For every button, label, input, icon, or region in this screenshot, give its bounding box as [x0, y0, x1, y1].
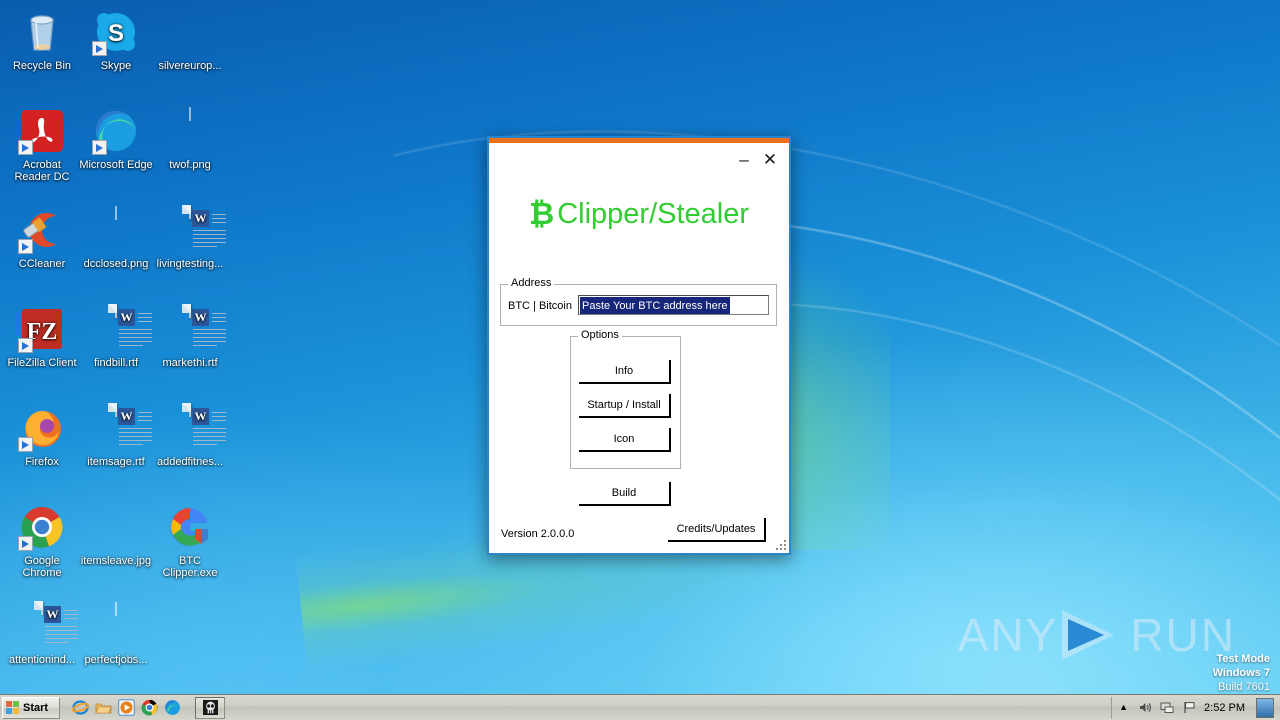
desktop-icon-3[interactable]: Acrobat Reader DC: [4, 107, 80, 183]
edge-art: [92, 107, 140, 155]
desktop-icon-label: Google Chrome: [4, 555, 80, 579]
word-doc-art: W: [166, 305, 214, 353]
recycle-bin-art: [18, 8, 66, 56]
show-desktop-button[interactable]: [1256, 698, 1274, 718]
windows-logo-icon: [6, 701, 20, 715]
blank-image-thumbnail: [115, 602, 117, 616]
desktop-icon-label: perfectjobs...: [78, 654, 154, 666]
shortcut-arrow-icon: [18, 536, 33, 551]
shortcut-arrow-icon: [18, 437, 33, 452]
minimize-button[interactable]: –: [733, 150, 755, 170]
chrome-art: [18, 503, 66, 551]
desktop-icon-18[interactable]: W attentionind...: [4, 602, 80, 666]
desktop-icon-label: addedfitnes...: [152, 456, 228, 468]
desktop-icon-label: Firefox: [4, 456, 80, 468]
black-thumb-art: [166, 8, 214, 56]
btc-clipper-exe-icon: [166, 503, 214, 551]
desktop-icon-19[interactable]: perfectjobs...: [78, 602, 154, 666]
address-group-legend: Address: [508, 277, 554, 289]
firefox-art: [18, 404, 66, 452]
address-groupbox: Address BTC | Bitcoin Paste Your BTC add…: [500, 284, 777, 326]
clock[interactable]: 2:52 PM: [1204, 702, 1245, 714]
black-thumb-art: [92, 503, 140, 551]
taskbar[interactable]: Start: [0, 694, 1280, 720]
word-doc-art: W: [92, 305, 140, 353]
btc-clipper-task-button[interactable]: [195, 697, 225, 719]
volume-icon[interactable]: [1138, 700, 1153, 715]
app-logo: ₿Clipper/Stealer: [489, 196, 789, 232]
desktop-icon-11[interactable]: W markethi.rtf: [152, 305, 228, 369]
bitcoin-icon: ₿: [529, 196, 554, 231]
desktop-icon-label: livingtesting...: [152, 258, 228, 270]
desktop-icon-label: twof.png: [152, 159, 228, 171]
empty-thumb-art: [92, 602, 140, 650]
desktop-icon-16[interactable]: itemsleave.jpg: [78, 503, 154, 567]
startup-install-button[interactable]: Startup / Install: [579, 394, 669, 416]
internet-explorer-icon[interactable]: [72, 699, 89, 716]
desktop-icon-label: attentionind...: [4, 654, 80, 666]
desktop-icon-label: itemsleave.jpg: [78, 555, 154, 567]
desktop-icon-0[interactable]: Recycle Bin: [4, 8, 80, 72]
desktop-icon-label: Recycle Bin: [4, 60, 80, 72]
btc-clipper-window[interactable]: – ✕ ₿Clipper/Stealer Address BTC | Bitco…: [487, 136, 791, 555]
start-button[interactable]: Start: [2, 697, 60, 719]
desktop[interactable]: Recycle Bin S Skypesilvereurop... Acroba…: [0, 0, 1280, 720]
desktop-icon-14[interactable]: W addedfitnes...: [152, 404, 228, 468]
microsoft-edge-icon[interactable]: [164, 699, 181, 716]
shortcut-arrow-icon: [92, 140, 107, 155]
test-mode-banner: Test Mode Windows 7 Build 7601: [1213, 652, 1270, 694]
desktop-icon-2[interactable]: silvereurop...: [152, 8, 228, 72]
desktop-icon-4[interactable]: Microsoft Edge: [78, 107, 154, 171]
test-mode-line1: Test Mode: [1213, 652, 1270, 666]
media-player-icon[interactable]: [118, 699, 135, 716]
desktop-icon-15[interactable]: Google Chrome: [4, 503, 80, 579]
quick-launch-bar[interactable]: [72, 699, 181, 716]
google-chrome-icon[interactable]: [141, 699, 158, 716]
shortcut-arrow-icon: [18, 239, 33, 254]
anyrun-watermark: ANY RUN: [958, 608, 1236, 662]
rtf-document-icon: W: [115, 304, 117, 318]
shortcut-arrow-icon: [92, 41, 107, 56]
btc-clipper-art: [166, 503, 214, 551]
watermark-text-any: ANY: [958, 608, 1059, 662]
desktop-icon-17[interactable]: BTC Clipper.exe: [152, 503, 228, 579]
rtf-document-icon: W: [41, 601, 43, 615]
desktop-icon-13[interactable]: W itemsage.rtf: [78, 404, 154, 468]
desktop-icon-label: markethi.rtf: [152, 357, 228, 369]
word-doc-art: W: [18, 602, 66, 650]
rtf-document-icon: W: [189, 304, 191, 318]
desktop-icon-label: BTC Clipper.exe: [152, 555, 228, 579]
desktop-icon-label: Acrobat Reader DC: [4, 159, 80, 183]
options-group-legend: Options: [578, 329, 622, 341]
test-mode-line2: Windows 7: [1213, 666, 1270, 680]
svg-text:S: S: [108, 20, 124, 47]
desktop-icon-1[interactable]: S Skype: [78, 8, 154, 72]
recycle-bin-icon: [18, 8, 66, 56]
window-titlebar[interactable]: – ✕: [489, 144, 789, 174]
blank-image-thumbnail: [189, 107, 191, 121]
desktop-icon-label: FileZilla Client: [4, 357, 80, 369]
btc-address-input[interactable]: Paste Your BTC address here: [578, 295, 769, 315]
blank-image-thumbnail: [115, 206, 117, 220]
word-doc-art: W: [92, 404, 140, 452]
empty-thumb-art: [166, 107, 214, 155]
rtf-document-icon: W: [189, 205, 191, 219]
filezilla-art: FZ: [18, 305, 66, 353]
desktop-icon-8[interactable]: W livingtesting...: [152, 206, 228, 270]
rtf-document-icon: W: [115, 403, 117, 417]
windows-explorer-icon[interactable]: [95, 699, 112, 716]
resize-grip-icon[interactable]: [775, 539, 786, 550]
acrobat-art: [18, 107, 66, 155]
desktop-icon-7[interactable]: dcclosed.png: [78, 206, 154, 270]
desktop-icon-label: CCleaner: [4, 258, 80, 270]
desktop-icon-label: findbill.rtf: [78, 357, 154, 369]
word-doc-art: W: [166, 206, 214, 254]
rtf-document-icon: W: [189, 403, 191, 417]
word-doc-art: W: [166, 404, 214, 452]
desktop-icon-5[interactable]: twof.png: [152, 107, 228, 171]
shortcut-arrow-icon: [18, 140, 33, 155]
play-triangle-icon: [1062, 610, 1126, 660]
desktop-icon-label: itemsage.rtf: [78, 456, 154, 468]
system-tray[interactable]: ▲ 2:52 PM: [1111, 697, 1278, 719]
start-button-label: Start: [23, 702, 48, 714]
desktop-icon-label: Microsoft Edge: [78, 159, 154, 171]
desktop-icon-label: dcclosed.png: [78, 258, 154, 270]
ccleaner-art: [18, 206, 66, 254]
desktop-icon-10[interactable]: W findbill.rtf: [78, 305, 154, 369]
desktop-icon-12[interactable]: Firefox: [4, 404, 80, 468]
info-button[interactable]: Info: [579, 360, 669, 382]
shortcut-arrow-icon: [18, 338, 33, 353]
close-button[interactable]: ✕: [759, 150, 781, 170]
credits-updates-button[interactable]: Credits/Updates: [668, 518, 764, 540]
empty-thumb-art: [92, 206, 140, 254]
icon-button[interactable]: Icon: [579, 428, 669, 450]
btc-address-value[interactable]: Paste Your BTC address here: [580, 297, 730, 315]
desktop-icon-label: silvereurop...: [152, 60, 228, 72]
app-title: Clipper/Stealer: [557, 198, 749, 230]
desktop-icon-6[interactable]: CCleaner: [4, 206, 80, 270]
action-center-flag-icon[interactable]: [1182, 700, 1197, 715]
desktop-icon-label: Skype: [78, 60, 154, 72]
skype-art: S: [92, 8, 140, 56]
network-icon[interactable]: [1160, 700, 1175, 715]
watermark-text-run: RUN: [1130, 608, 1236, 662]
desktop-icon-9[interactable]: FZ FileZilla Client: [4, 305, 80, 369]
skull-icon: [203, 700, 218, 715]
version-label: Version 2.0.0.0: [501, 528, 574, 540]
btc-address-label: BTC | Bitcoin: [508, 300, 572, 312]
build-button[interactable]: Build: [579, 482, 669, 504]
test-mode-line3: Build 7601: [1213, 680, 1270, 694]
show-hidden-icons-button[interactable]: ▲: [1116, 700, 1131, 715]
